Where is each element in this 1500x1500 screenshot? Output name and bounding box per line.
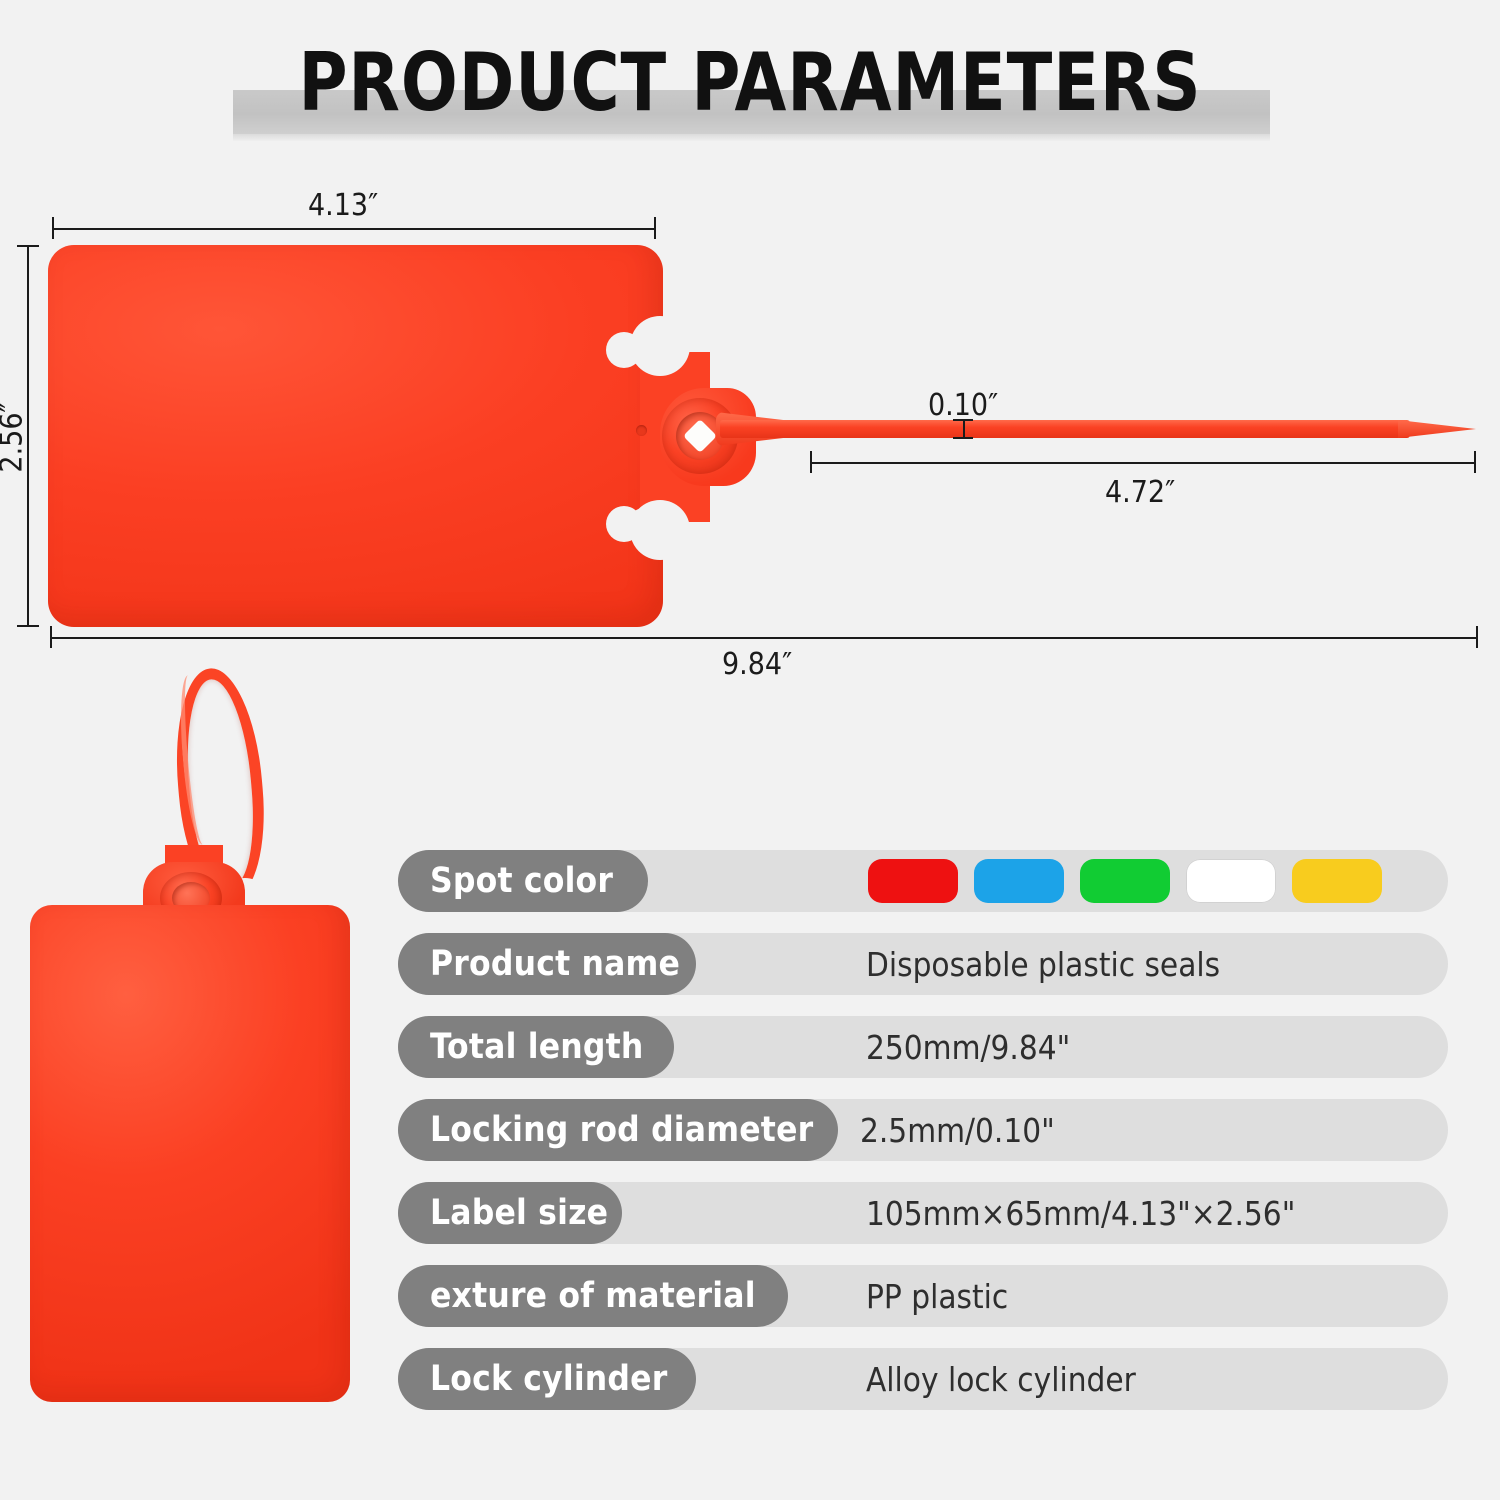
tick-total-right <box>1476 626 1478 648</box>
color-swatch-red[interactable] <box>868 859 958 903</box>
spec-value: Alloy lock cylinder <box>866 1348 1136 1410</box>
seal-label-panel-front <box>48 245 663 627</box>
spec-row: 105mm×65mm/4.13"×2.56"Label size <box>398 1182 1448 1244</box>
tick-strap-left <box>810 451 812 473</box>
color-swatch-green[interactable] <box>1080 859 1170 903</box>
dimension-label-height: 2.56″ <box>0 388 30 488</box>
seal-label-panel-looped <box>30 905 350 1402</box>
spec-row: Disposable plastic sealsProduct name <box>398 933 1448 995</box>
color-swatch-blue[interactable] <box>974 859 1064 903</box>
spec-key-label: Locking rod diameter <box>430 1110 813 1150</box>
dimension-label-total-length: 9.84″ <box>722 647 792 682</box>
dimension-label-width: 4.13″ <box>308 188 378 223</box>
spec-key-pill: Product name <box>398 933 696 995</box>
spec-key-pill: exture of material <box>398 1265 788 1327</box>
infographic-canvas: PRODUCT PARAMETERS 4.13″ 2.56″ 0.10″ 4.7… <box>0 0 1500 1500</box>
color-swatch-white[interactable] <box>1186 859 1276 903</box>
dimension-line-strap-length <box>810 462 1476 464</box>
dimension-label-rod-diameter: 0.10″ <box>928 388 998 423</box>
spec-row: 2.5mm/0.10"Locking rod diameter <box>398 1099 1448 1161</box>
spec-row: 250mm/9.84"Total length <box>398 1016 1448 1078</box>
tick-total-left <box>50 626 52 648</box>
spec-value: 105mm×65mm/4.13"×2.56" <box>866 1182 1295 1244</box>
dimension-line-rod-diameter <box>963 419 965 439</box>
spec-key-pill: Locking rod diameter <box>398 1099 838 1161</box>
tick-height-top <box>17 245 39 247</box>
spec-key-label: Spot color <box>430 861 613 901</box>
page-title: PRODUCT PARAMETERS <box>53 38 1448 128</box>
title-band-shadow <box>233 134 1270 141</box>
seal-panel-dimple <box>636 425 647 436</box>
seal-strap-tip <box>1398 420 1476 438</box>
spec-key-pill: Spot color <box>398 850 648 912</box>
tick-width-left <box>52 217 54 239</box>
spec-row: PP plasticexture of material <box>398 1265 1448 1327</box>
spot-color-swatches <box>868 859 1382 903</box>
spec-value: PP plastic <box>866 1265 1008 1327</box>
spec-key-label: Product name <box>430 944 680 984</box>
tick-height-bottom <box>17 625 39 627</box>
spec-row: Alloy lock cylinderLock cylinder <box>398 1348 1448 1410</box>
spec-key-label: exture of material <box>430 1276 756 1316</box>
spec-row: Spot color <box>398 850 1448 912</box>
dimension-line-label-width <box>52 228 656 230</box>
spec-key-label: Lock cylinder <box>430 1359 667 1399</box>
color-swatch-yellow[interactable] <box>1292 859 1382 903</box>
tick-strap-right <box>1474 451 1476 473</box>
spec-value: Disposable plastic seals <box>866 933 1220 995</box>
spec-key-label: Label size <box>430 1193 608 1233</box>
seal-neck-bottom-cutout <box>630 500 690 560</box>
spec-key-pill: Lock cylinder <box>398 1348 696 1410</box>
tick-width-right <box>654 217 656 239</box>
tick-rod-top <box>953 419 973 421</box>
spec-table: Spot colorDisposable plastic sealsProduc… <box>398 850 1448 1431</box>
seal-locking-rod <box>720 420 1410 438</box>
spec-key-pill: Total length <box>398 1016 674 1078</box>
dimension-line-total-length <box>50 637 1478 639</box>
seal-neck-top-cutout <box>630 316 690 376</box>
spec-value: 2.5mm/0.10" <box>860 1099 1055 1161</box>
spec-key-label: Total length <box>430 1027 644 1067</box>
spec-value: 250mm/9.84" <box>866 1016 1070 1078</box>
dimension-label-strap-length: 4.72″ <box>1105 475 1175 510</box>
spec-key-pill: Label size <box>398 1182 622 1244</box>
tick-rod-bottom <box>953 437 973 439</box>
